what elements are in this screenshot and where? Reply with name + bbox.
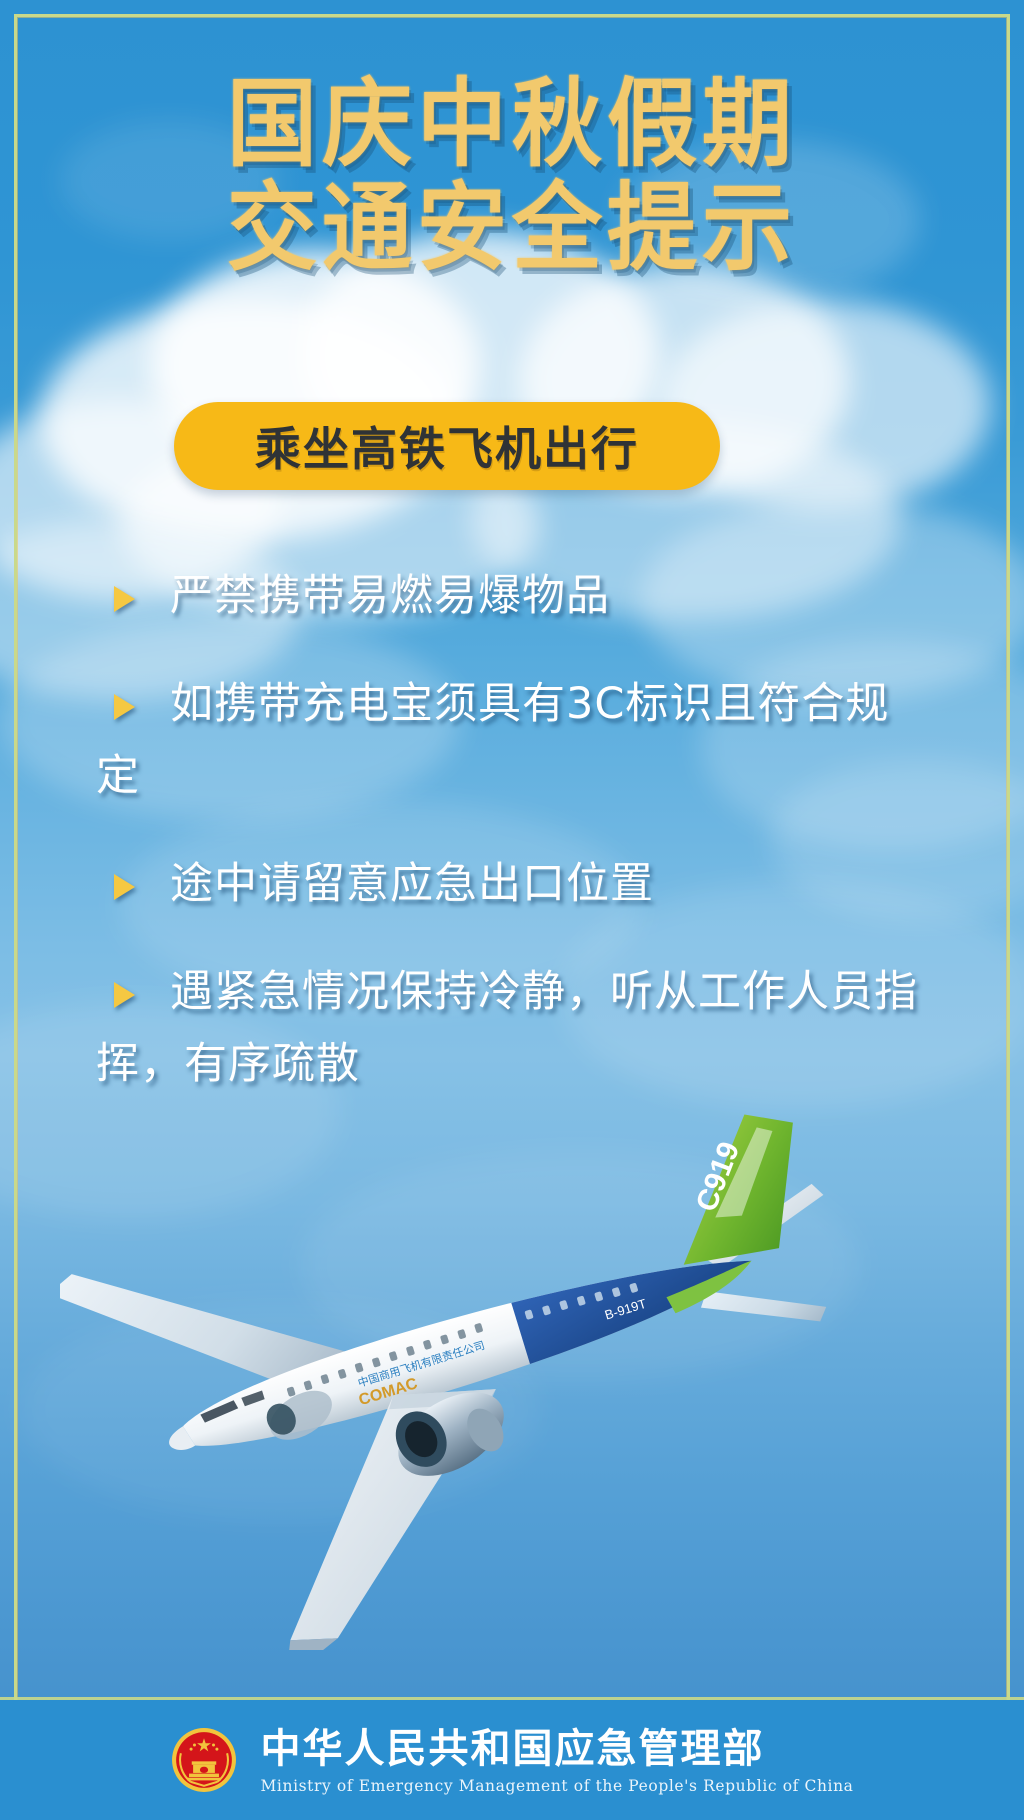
aircraft-logo-marking: COMAC [357,1375,420,1409]
aircraft-operator-marking: 中国商用飞机有限责任公司 [356,1338,486,1390]
poster-canvas: 国庆中秋假期 交通安全提示 乘坐高铁飞机出行 严禁携带易燃易爆物品 如携带充电宝… [0,0,1024,1820]
list-item: 如携带充电宝须具有3C标识且符合规定 [96,668,926,812]
aircraft-model-marking: C919 [690,1137,747,1216]
safety-tips-list: 严禁携带易燃易爆物品 如携带充电宝须具有3C标识且符合规定 途中请留意应急出口位… [96,560,926,1136]
list-item-text: 途中请留意应急出口位置 [170,859,654,909]
footer-text-group: 中华人民共和国应急管理部 Ministry of Emergency Manag… [260,1726,853,1795]
cloud-decoration [300,1150,860,1380]
footer-org-en: Ministry of Emergency Management of the … [260,1777,853,1795]
triangle-right-icon [114,982,135,1008]
list-item: 遇紧急情况保持冷静，听从工作人员指挥，有序疏散 [96,956,926,1100]
triangle-right-icon [114,694,135,720]
triangle-right-icon [114,874,135,900]
list-item: 严禁携带易燃易爆物品 [96,560,926,632]
cloud-decoration [660,300,990,510]
list-item-text: 如携带充电宝须具有3C标识且符合规定 [96,679,889,801]
national-emblem-icon [170,1726,238,1794]
list-item-text: 严禁携带易燃易爆物品 [170,571,610,621]
poster-title: 国庆中秋假期 交通安全提示 [0,72,1024,280]
triangle-right-icon [114,586,135,612]
cloud-decoration [20,1300,540,1520]
list-item-text: 遇紧急情况保持冷静，听从工作人员指挥，有序疏散 [96,967,918,1089]
footer-bar: 中华人民共和国应急管理部 Ministry of Emergency Manag… [0,1700,1024,1820]
section-badge: 乘坐高铁飞机出行 [174,402,720,490]
title-line-2: 交通安全提示 [0,172,1024,283]
section-badge-label: 乘坐高铁飞机出行 [255,413,639,479]
airplane-icon: 中国商用飞机有限责任公司 COMAC B-919T C919 [60,1090,920,1650]
title-line-1: 国庆中秋假期 [0,68,1024,179]
footer-org-cn: 中华人民共和国应急管理部 [260,1726,764,1772]
list-item: 途中请留意应急出口位置 [96,848,926,920]
aircraft-registration: B-919T [603,1296,648,1323]
